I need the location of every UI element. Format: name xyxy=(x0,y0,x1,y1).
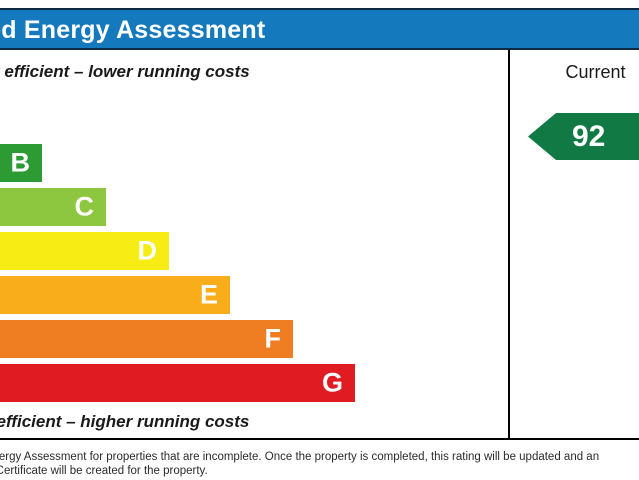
current-rating-value: 92 xyxy=(528,113,639,160)
certificate-canvas: Predicted Energy Assessment Very energy … xyxy=(0,0,639,480)
footnote: This is a Predicted Energy Assessment fo… xyxy=(0,450,639,478)
rating-bar-f: F xyxy=(0,320,293,358)
footnote-line-2: Energy Performance Certificate will be c… xyxy=(0,464,639,478)
panel-divider xyxy=(508,50,510,440)
rating-bar-c: C xyxy=(0,188,106,226)
rating-bar-letter-f: F xyxy=(265,326,282,353)
current-rating-header: Current xyxy=(516,62,639,83)
rating-bar-letter-g: G xyxy=(322,370,343,397)
rating-bar-g: G xyxy=(0,364,355,402)
rating-scale-bars: ABCDEFG xyxy=(0,0,639,390)
rating-bar-letter-d: D xyxy=(138,238,158,265)
rating-bar-d: D xyxy=(0,232,169,270)
rating-bar-letter-b: B xyxy=(11,150,31,177)
caption-inefficient: Not energy efficient – higher running co… xyxy=(0,412,249,432)
rating-bar-letter-c: C xyxy=(75,194,95,221)
rating-bar-letter-e: E xyxy=(200,282,218,309)
footnote-line-1: This is a Predicted Energy Assessment fo… xyxy=(0,450,639,464)
energy-assessment-graphic: Predicted Energy Assessment Very energy … xyxy=(0,0,639,480)
rating-bar-e: E xyxy=(0,276,230,314)
rating-bar-b: B xyxy=(0,144,42,182)
